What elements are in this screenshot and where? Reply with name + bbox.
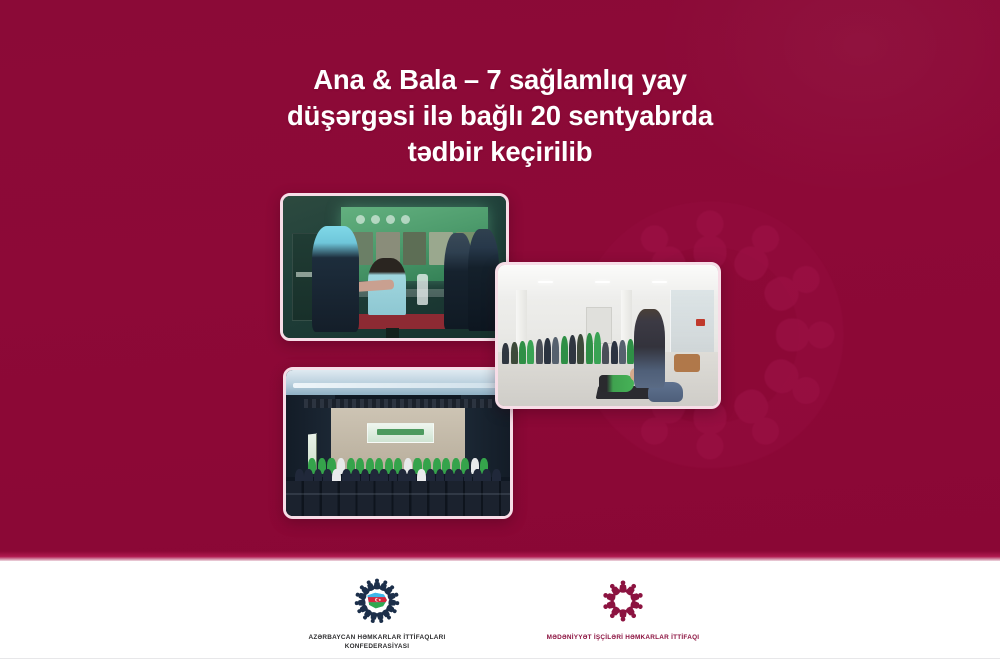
brand-culture-workers-union: MƏDƏNİYYƏT İŞÇİLƏRİ HƏMKARLAR İTTİFAQI [533, 573, 713, 642]
collage-photo-auditorium-group [283, 367, 513, 519]
azerbaijan-trade-unions-confederation-logo-icon [287, 573, 467, 629]
culture-workers-trade-union-logo-icon [533, 573, 713, 629]
footer-logo-bar: AZƏRBAYCAN HƏMKARLAR İTTİFAQLARI KONFEDE… [0, 561, 1000, 666]
collage-photo-first-aid-demo [495, 262, 721, 409]
hero-background: Ana & Bala – 7 sağlamlıq yay düşərgəsi i… [0, 0, 1000, 561]
collage-photo-presentation [280, 193, 509, 341]
brand-confederation: AZƏRBAYCAN HƏMKARLAR İTTİFAQLARI KONFEDE… [287, 573, 467, 652]
brand-confederation-caption: AZƏRBAYCAN HƏMKARLAR İTTİFAQLARI KONFEDE… [287, 633, 467, 652]
footer-divider [0, 658, 1000, 659]
hero-bottom-fade [0, 551, 1000, 561]
brand-culture-workers-union-caption: MƏDƏNİYYƏT İŞÇİLƏRİ HƏMKARLAR İTTİFAQI [533, 633, 713, 642]
poster-root: Ana & Bala – 7 sağlamlıq yay düşərgəsi i… [0, 0, 1000, 666]
page-title: Ana & Bala – 7 sağlamlıq yay düşərgəsi i… [270, 62, 730, 170]
headline-container: Ana & Bala – 7 sağlamlıq yay düşərgəsi i… [0, 62, 1000, 170]
azerbaijan-map-flag [366, 591, 389, 610]
